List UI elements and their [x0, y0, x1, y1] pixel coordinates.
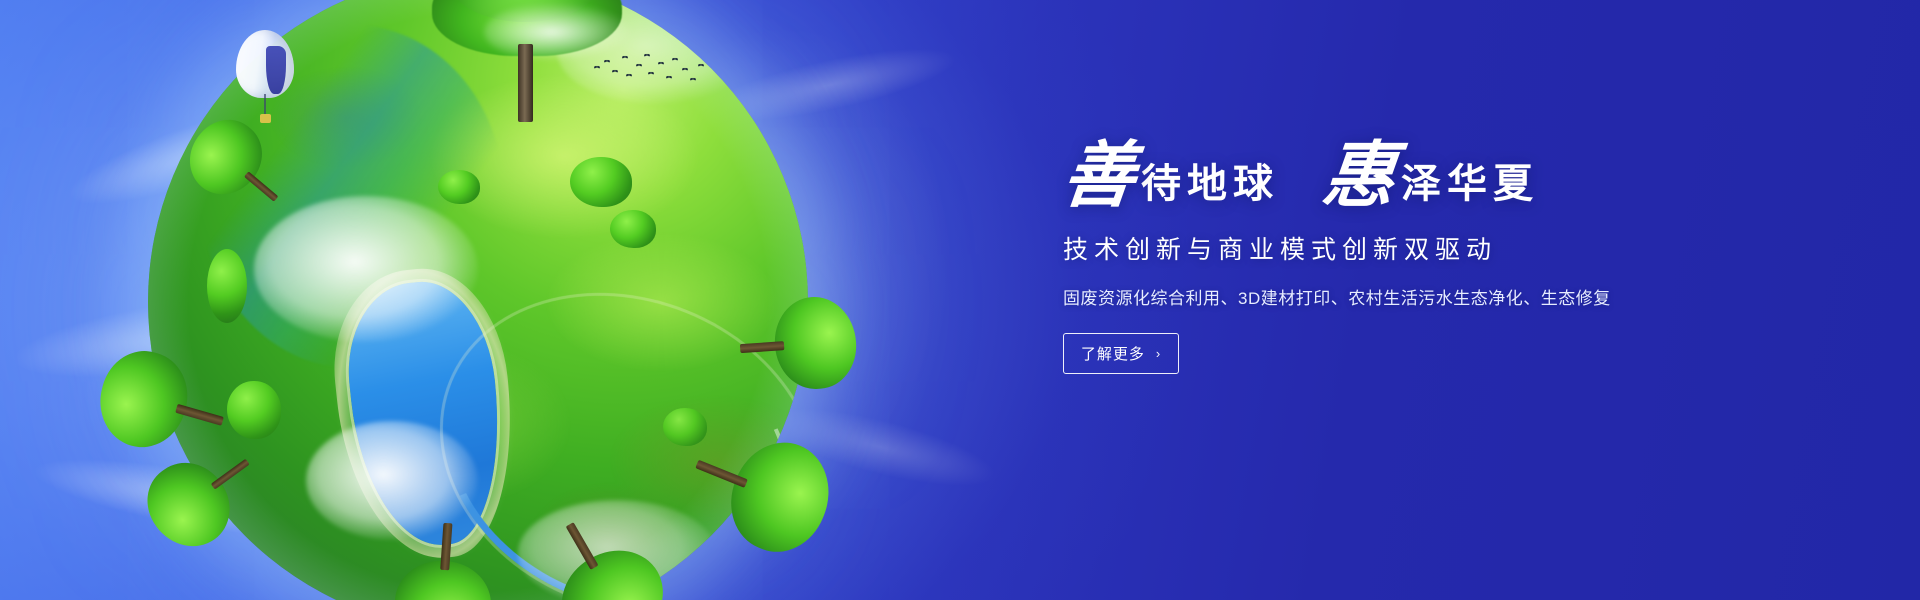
headline-emphasis-1: 善 [1059, 140, 1139, 212]
headline-rest-1: 待地球 [1141, 164, 1279, 212]
tree-trunk [244, 172, 278, 202]
shrub [610, 210, 656, 248]
hot-air-balloon-icon [236, 30, 294, 126]
balloon-stripe [266, 46, 286, 94]
shrub [663, 408, 707, 446]
lake [339, 275, 511, 553]
headline-rest-2: 泽华夏 [1401, 164, 1539, 212]
headline: 善 待地球 惠 泽华夏 [1063, 140, 1803, 212]
tree [741, 294, 859, 394]
learn-more-label: 了解更多 [1081, 343, 1145, 364]
hero-banner: 善 待地球 惠 泽华夏 技术创新与商业模式创新双驱动 固废资源化综合利用、3D建… [0, 0, 1920, 600]
balloon-basket [260, 114, 271, 123]
shrub [207, 249, 247, 323]
learn-more-button[interactable]: 了解更多 › [1063, 333, 1179, 374]
shrub [438, 170, 480, 204]
banner-content: 善 待地球 惠 泽华夏 技术创新与商业模式创新双驱动 固废资源化综合利用、3D建… [1063, 140, 1803, 374]
tree-crown [772, 294, 859, 391]
headline-emphasis-2: 惠 [1319, 140, 1399, 212]
shrub [570, 157, 632, 207]
balloon-rope [264, 94, 266, 116]
tree-trunk [211, 458, 250, 490]
globe-cloud [306, 421, 478, 540]
shrub [227, 381, 281, 439]
chevron-right-icon: › [1156, 346, 1161, 361]
bird-flock [592, 52, 712, 88]
banner-description: 固废资源化综合利用、3D建材打印、农村生活污水生态净化、生态修复 [1063, 284, 1803, 309]
tree-trunk [518, 44, 533, 122]
banner-subtitle: 技术创新与商业模式创新双驱动 [1063, 230, 1803, 266]
tree [392, 525, 496, 600]
tree-crown [132, 447, 245, 562]
globe-cloud [254, 196, 478, 341]
lake-shore [325, 261, 526, 568]
